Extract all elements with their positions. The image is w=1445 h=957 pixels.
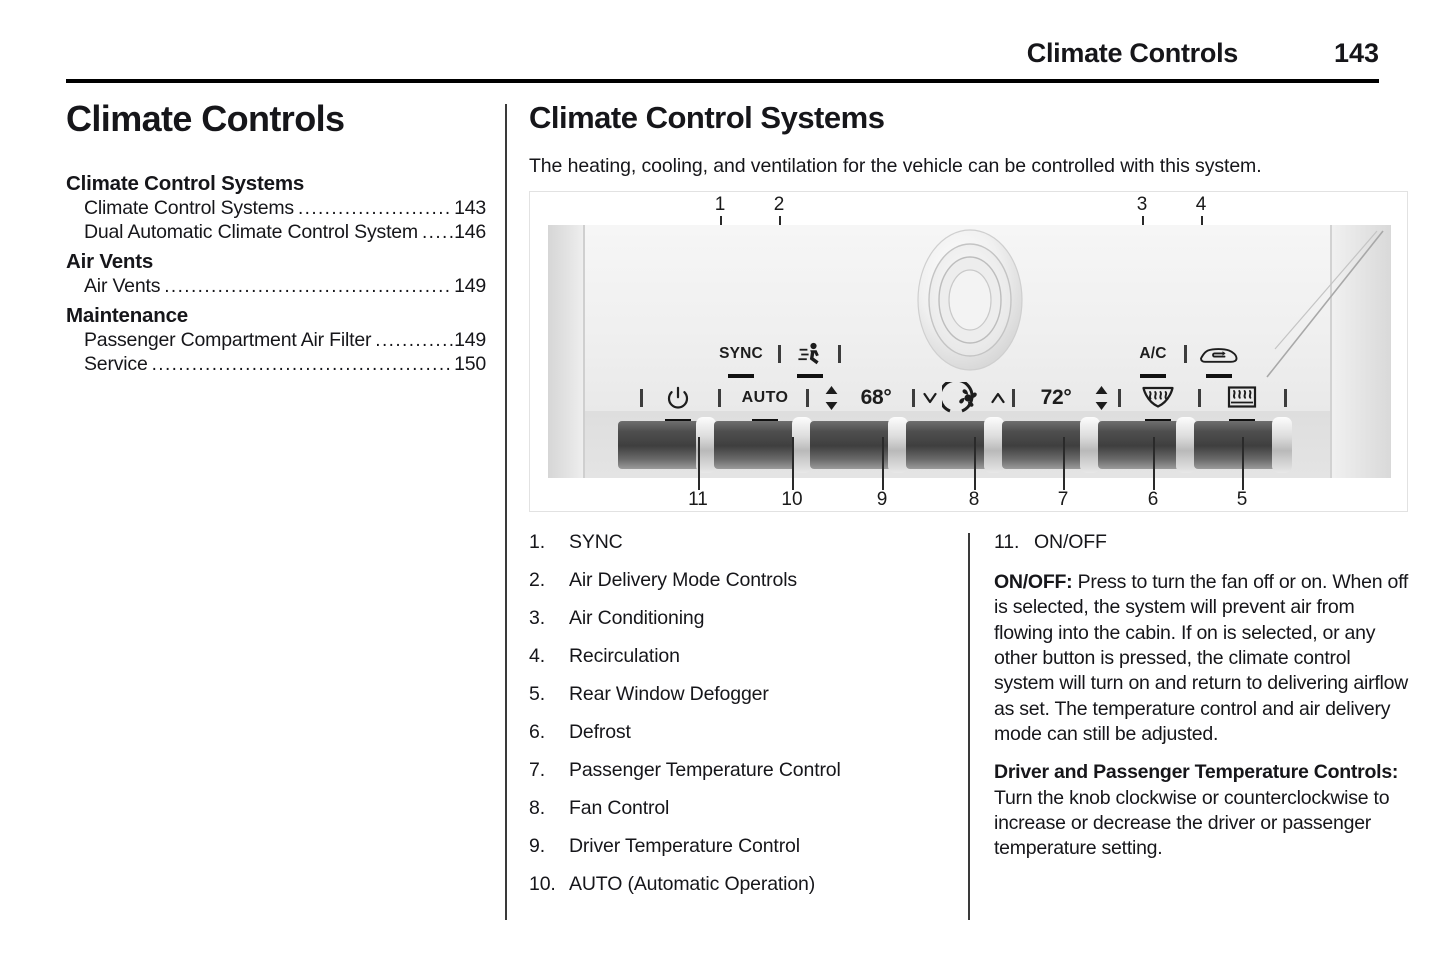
toc-entry-label: Air Vents: [84, 275, 160, 298]
list-item: 10. AUTO (Automatic Operation): [529, 873, 949, 896]
onoff-description: ON/OFF: Press to turn the fan off or on.…: [994, 570, 1412, 747]
toc-group: Air Vents Air Vents ....................…: [66, 250, 486, 298]
divider-tick: [640, 389, 643, 407]
list-item-label: Fan Control: [569, 797, 949, 820]
toc-group: Maintenance Passenger Compartment Air Fi…: [66, 304, 486, 376]
toc-entry[interactable]: Passenger Compartment Air Filter .......…: [66, 329, 486, 352]
recirculation-icon[interactable]: [1196, 337, 1242, 371]
list-item: 11. ON/OFF: [994, 531, 1412, 554]
temperature-controls-body: Turn the knob clockwise or counterclockw…: [994, 787, 1389, 860]
page-header: Climate Controls 143: [66, 38, 1379, 86]
toc-entry[interactable]: Service ................................…: [66, 353, 486, 376]
leader-line-7: [1063, 437, 1065, 490]
leader-line-8: [974, 437, 976, 490]
list-item-index: 8.: [529, 797, 569, 820]
button-auto[interactable]: [714, 421, 800, 469]
list-item: 6. Defrost: [529, 721, 949, 744]
list-item-index: 7.: [529, 759, 569, 782]
list-item-index: 11.: [994, 531, 1034, 554]
fan-icon[interactable]: [940, 380, 988, 416]
ac-label[interactable]: A/C: [1132, 337, 1174, 371]
physical-button-bar: [614, 417, 1330, 473]
callout-5: 5: [1227, 489, 1257, 511]
upper-button-label-row: SYNC A/C: [584, 337, 1331, 371]
callout-7: 7: [1048, 489, 1078, 511]
callout-2: 2: [764, 194, 794, 216]
main-content-column: Climate Control Systems The heating, coo…: [529, 100, 1409, 512]
toc-entry-page: 150: [454, 353, 486, 376]
toc-entry[interactable]: Air Vents ..............................…: [66, 275, 486, 298]
button-defrost[interactable]: [1098, 421, 1184, 469]
divider-tick: [1012, 389, 1015, 407]
leader-line-11: [698, 437, 700, 490]
divider-tick: [778, 345, 781, 363]
list-item-index: 6.: [529, 721, 569, 744]
main-button-label-row: AUTO 68°: [584, 380, 1331, 416]
divider-tick: [718, 389, 721, 407]
divider-tick: [1284, 389, 1287, 407]
callout-8: 8: [959, 489, 989, 511]
toc-entry[interactable]: Dual Automatic Climate Control System ..…: [66, 221, 486, 244]
temperature-controls-lead: Driver and Passenger Temperature Control…: [994, 761, 1398, 783]
button-spacer: [984, 417, 1004, 473]
column-divider: [505, 104, 507, 920]
dashboard-left-wing: [548, 225, 584, 478]
fan-decrease-icon[interactable]: [920, 380, 940, 416]
button-spacer: [792, 417, 812, 473]
divider-tick: [912, 389, 915, 407]
list-item-label: Driver Temperature Control: [569, 835, 949, 858]
divider-tick: [806, 389, 809, 407]
list-item-label: Rear Window Defogger: [569, 683, 949, 706]
toc-entry[interactable]: Climate Control Systems ................…: [66, 197, 486, 220]
list-item: 2. Air Delivery Mode Controls: [529, 569, 949, 592]
divider-tick: [1184, 345, 1187, 363]
section-title: Climate Control Systems: [529, 100, 1409, 136]
callout-11: 11: [683, 489, 713, 511]
button-spacer: [888, 417, 908, 473]
toc-leader-dots: ........................................…: [375, 330, 453, 352]
toc-leader-dots: ........................................…: [298, 198, 453, 220]
leader-line-9: [882, 437, 884, 490]
list-item-index: 4.: [529, 645, 569, 668]
list-item-index: 10.: [529, 873, 569, 896]
toc-entry-page: 146: [454, 221, 486, 244]
list-item-label: AUTO (Automatic Operation): [569, 873, 949, 896]
onoff-lead: ON/OFF:: [994, 571, 1072, 593]
list-item-index: 1.: [529, 531, 569, 554]
toc-group-title: Maintenance: [66, 304, 486, 328]
air-delivery-mode-icon[interactable]: [792, 337, 828, 371]
list-item-label: Defrost: [569, 721, 949, 744]
passenger-temp-updown-icon[interactable]: [1090, 380, 1112, 416]
list-item-index: 2.: [529, 569, 569, 592]
button-spacer: [1176, 417, 1196, 473]
list-item-index: 5.: [529, 683, 569, 706]
toc-entry-label: Service: [84, 353, 148, 376]
button-spacer: [1080, 417, 1100, 473]
driver-temp-value: 68°: [846, 380, 906, 416]
list-item-label: SYNC: [569, 531, 949, 554]
power-icon[interactable]: [658, 380, 698, 416]
temperature-controls-description: Driver and Passenger Temperature Control…: [994, 760, 1412, 861]
list-item: 1. SYNC: [529, 531, 949, 554]
toc-entry-page: 149: [454, 275, 486, 298]
list-item: 3. Air Conditioning: [529, 607, 949, 630]
figure-legend-left: 1. SYNC 2. Air Delivery Mode Controls 3.…: [529, 531, 949, 911]
leader-line-5: [1242, 437, 1244, 490]
button-rear-defogger[interactable]: [1194, 421, 1280, 469]
callout-9: 9: [867, 489, 897, 511]
toc-leader-dots: ........................................…: [164, 276, 453, 298]
list-item-index: 9.: [529, 835, 569, 858]
intro-paragraph: The heating, cooling, and ventilation fo…: [529, 155, 1409, 178]
toc-entry-label: Dual Automatic Climate Control System: [84, 221, 418, 244]
leader-line-10: [792, 437, 794, 490]
list-item-label: Recirculation: [569, 645, 949, 668]
climate-control-panel-figure: 1 2 3 4: [529, 191, 1408, 512]
toc-entry-label: Climate Control Systems: [84, 197, 294, 220]
callout-6: 6: [1138, 489, 1168, 511]
list-item-index: 3.: [529, 607, 569, 630]
toc-group-title: Air Vents: [66, 250, 486, 274]
divider-tick: [1198, 389, 1201, 407]
toc-leader-dots: ........................................…: [422, 222, 453, 244]
callout-1: 1: [705, 194, 735, 216]
sub-column-divider: [968, 533, 970, 920]
leader-line-6: [1153, 437, 1155, 490]
callout-4: 4: [1186, 194, 1216, 216]
auto-label[interactable]: AUTO: [736, 380, 794, 416]
button-spacer: [1272, 417, 1292, 473]
passenger-temp-value: 72°: [1026, 380, 1086, 416]
list-item: 8. Fan Control: [529, 797, 949, 820]
callout-10: 10: [777, 489, 807, 511]
toc-entry-label: Passenger Compartment Air Filter: [84, 329, 371, 352]
chapter-toc-column: Climate Controls Climate Control Systems…: [66, 100, 486, 382]
button-passenger-temp[interactable]: [1002, 421, 1088, 469]
toc-group: Climate Control Systems Climate Control …: [66, 172, 486, 244]
chapter-title: Climate Controls: [66, 100, 486, 138]
fan-increase-icon[interactable]: [988, 380, 1008, 416]
button-onoff[interactable]: [618, 421, 704, 469]
callout-3: 3: [1127, 194, 1157, 216]
header-page-number: 143: [1334, 38, 1379, 69]
toc-entry-page: 143: [454, 197, 486, 220]
button-fan[interactable]: [906, 421, 992, 469]
driver-temp-updown-icon[interactable]: [820, 380, 842, 416]
defrost-icon[interactable]: [1136, 380, 1180, 416]
list-item: 7. Passenger Temperature Control: [529, 759, 949, 782]
toc-group-title: Climate Control Systems: [66, 172, 486, 196]
list-item-label: Air Delivery Mode Controls: [569, 569, 949, 592]
list-item: 4. Recirculation: [529, 645, 949, 668]
dashboard-illustration: SYNC A/C: [548, 225, 1391, 478]
list-item: 5. Rear Window Defogger: [529, 683, 949, 706]
list-item-label: ON/OFF: [1034, 531, 1412, 554]
figure-legend-right: 11. ON/OFF ON/OFF: Press to turn the fan…: [994, 531, 1412, 875]
sync-label[interactable]: SYNC: [714, 337, 768, 371]
list-item: 9. Driver Temperature Control: [529, 835, 949, 858]
list-item-label: Passenger Temperature Control: [569, 759, 949, 782]
list-item-label: Air Conditioning: [569, 607, 949, 630]
header-title: Climate Controls: [1027, 38, 1238, 69]
toc-entry-page: 149: [454, 329, 486, 352]
toc-leader-dots: ........................................…: [152, 354, 453, 376]
onoff-body: Press to turn the fan off or on. When of…: [994, 571, 1408, 745]
rear-defogger-icon[interactable]: [1220, 380, 1264, 416]
divider-tick: [838, 345, 841, 363]
header-divider: [66, 79, 1379, 83]
divider-tick: [1118, 389, 1121, 407]
